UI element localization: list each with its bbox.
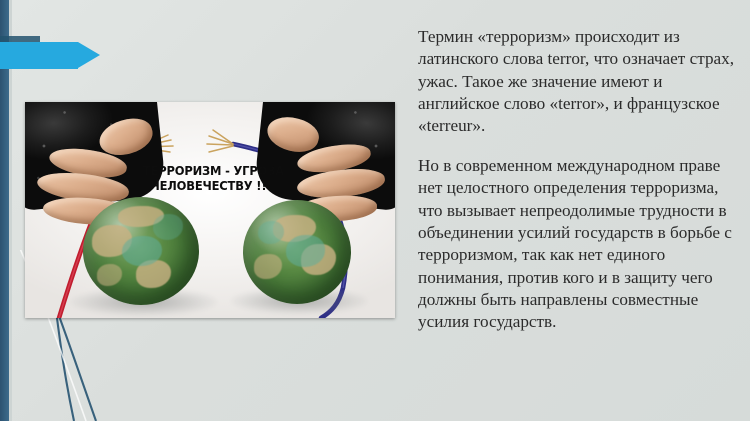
photo-terrorism-globes: ТЕРРОРИЗМ - УГРОЗА ЧЕЛОВЕЧЕСТВУ !!!: [25, 102, 395, 318]
photo-banner-line-2: ЧЕЛОВЕЧЕСТВУ !!!: [143, 179, 279, 194]
body-text-column: Термин «терроризм» происходит из латинск…: [418, 26, 738, 334]
right-arrow-accent-head: [78, 42, 100, 68]
photo-banner-caption: ТЕРРОРИЗМ - УГРОЗА ЧЕЛОВЕЧЕСТВУ !!!: [143, 164, 279, 194]
presentation-slide: ТЕРРОРИЗМ - УГРОЗА ЧЕЛОВЕЧЕСТВУ !!! Терм…: [0, 0, 750, 421]
right-arrow-accent-body: [0, 42, 78, 69]
globe-left: [83, 197, 199, 305]
globe-right: [243, 200, 351, 304]
photo-banner-line-1: ТЕРРОРИЗМ - УГРОЗА: [143, 164, 279, 179]
paragraph-definition: Термин «терроризм» происходит из латинск…: [418, 26, 738, 138]
paragraph-international-law: Но в современном международном праве нет…: [418, 155, 738, 334]
